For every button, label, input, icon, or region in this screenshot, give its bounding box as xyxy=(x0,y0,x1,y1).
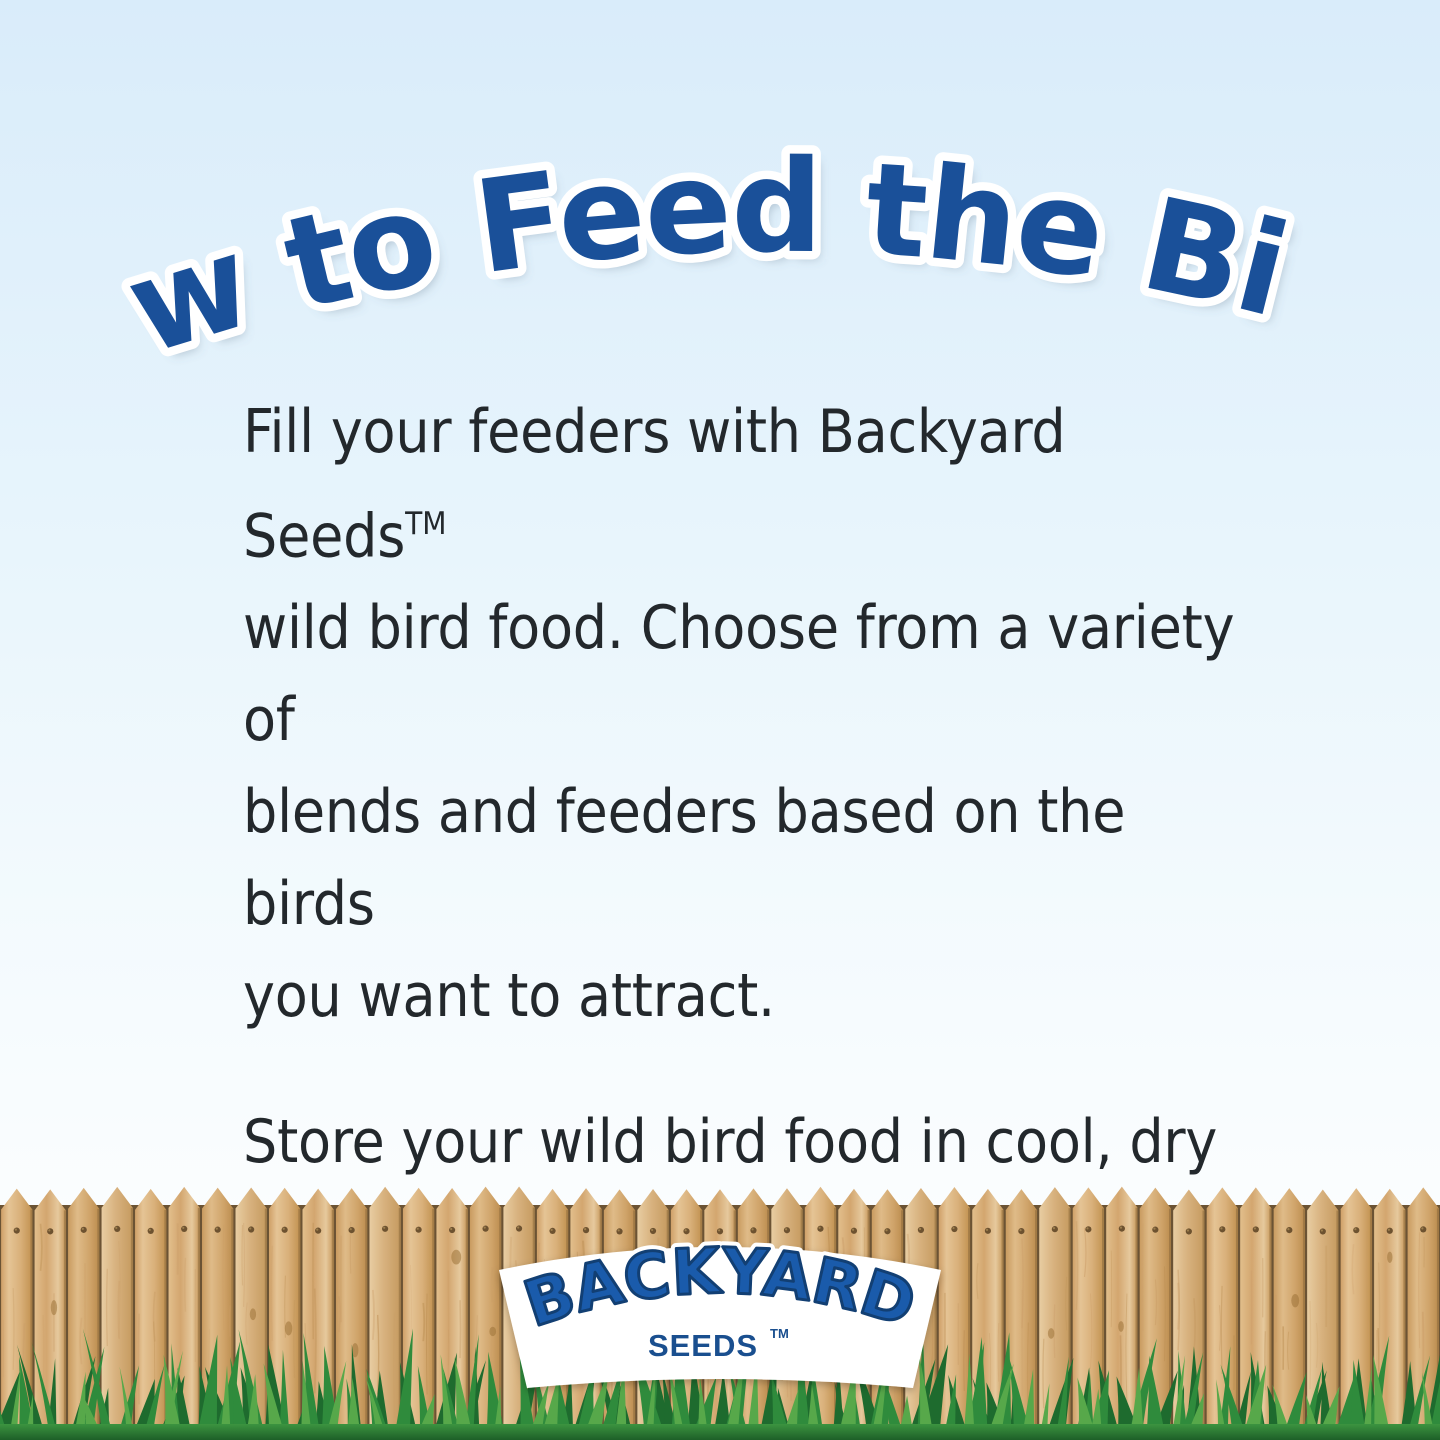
fence-nail xyxy=(282,1227,288,1233)
wood-grain xyxy=(107,1269,108,1346)
paragraph-fill-feeders: Fill your feeders with Backyard SeedsTM … xyxy=(243,386,1253,1042)
wood-grain xyxy=(394,1312,395,1417)
fence-nail-highlight xyxy=(1086,1227,1088,1229)
picket-edge-shadow xyxy=(1035,1210,1037,1440)
fence-nail-highlight xyxy=(249,1227,251,1229)
wood-knot xyxy=(1118,1321,1124,1332)
fence-nail xyxy=(114,1226,120,1232)
wood-grain xyxy=(43,1315,44,1392)
fence-nail xyxy=(1320,1228,1326,1234)
fence-nail-highlight xyxy=(1019,1229,1021,1231)
turf-base xyxy=(0,1424,1440,1440)
fence-nail-highlight xyxy=(417,1228,419,1230)
fence-nail xyxy=(14,1227,20,1233)
fence-nail-highlight xyxy=(1053,1227,1055,1229)
logo-sub-trademark: TM xyxy=(770,1326,789,1341)
fence-nail xyxy=(47,1228,53,1234)
picket-edge-shadow xyxy=(365,1209,367,1440)
title-fill-layer: How to Feed the Birds xyxy=(0,0,1300,384)
poster-canvas: How to Feed the Birds How to Feed the Bi… xyxy=(0,0,1440,1440)
picket-edge-shadow xyxy=(1069,1208,1071,1440)
fence-nail-highlight xyxy=(1354,1228,1356,1230)
fence-nail-highlight xyxy=(383,1227,385,1229)
fence-nail xyxy=(248,1226,254,1232)
picket-edge-shadow xyxy=(265,1209,267,1440)
trademark-symbol: TM xyxy=(405,506,446,542)
fence-nail xyxy=(1286,1227,1292,1233)
wood-grain xyxy=(1054,1304,1055,1357)
fence-nail-highlight xyxy=(216,1228,218,1230)
fence-nail xyxy=(1152,1227,1158,1233)
fence-nail xyxy=(81,1227,87,1233)
fence-nail-highlight xyxy=(1187,1229,1189,1231)
wood-knot xyxy=(1387,1252,1392,1263)
fence-nail-highlight xyxy=(1220,1227,1222,1229)
fence-nail xyxy=(1052,1226,1058,1232)
fence-nail-highlight xyxy=(82,1228,84,1230)
wood-grain xyxy=(423,1303,424,1341)
wood-grain xyxy=(242,1225,243,1285)
paragraph-1-text-a: Fill your feeders with Backyard Seeds xyxy=(243,397,1065,571)
wood-grain xyxy=(118,1281,119,1339)
fence-nail-highlight xyxy=(15,1228,17,1230)
fence-nail xyxy=(1387,1228,1393,1234)
fence-nail-highlight xyxy=(350,1228,352,1230)
wood-grain xyxy=(139,1314,140,1405)
wood-knot xyxy=(51,1300,57,1315)
picket-board xyxy=(35,1189,66,1440)
fence-nail-highlight xyxy=(1421,1227,1423,1229)
logo-artwork: BACKYARD BACKYARD BACKYARD SEEDS TM xyxy=(485,1228,955,1393)
fence-nail xyxy=(1085,1226,1091,1232)
title-shadow-layer: How to Feed the Birds xyxy=(0,0,1307,392)
fence-nail-highlight xyxy=(115,1227,117,1229)
title-artwork: How to Feed the Birds How to Feed the Bi… xyxy=(0,104,1440,324)
fence-nail xyxy=(1119,1226,1125,1232)
fence-nail-highlight xyxy=(149,1229,151,1231)
fence-nail xyxy=(382,1226,388,1232)
page-title: How to Feed the Birds How to Feed the Bi… xyxy=(0,104,1440,324)
picket-edge-shadow xyxy=(64,1210,66,1440)
wood-knot xyxy=(451,1250,461,1265)
paragraph-1-text-b: wild bird food. Choose from a variety of… xyxy=(243,593,1234,1031)
fence-picket xyxy=(35,1189,66,1440)
fence-nail-highlight xyxy=(283,1228,285,1230)
backyard-seeds-logo[interactable]: BACKYARD BACKYARD BACKYARD SEEDS TM xyxy=(485,1228,955,1393)
wood-grain xyxy=(185,1258,186,1312)
wood-grain xyxy=(1221,1286,1222,1374)
fence-nail xyxy=(416,1227,422,1233)
fence-nail xyxy=(1353,1227,1359,1233)
fence-nail xyxy=(181,1226,187,1232)
fence-nail xyxy=(349,1227,355,1233)
wood-knot xyxy=(1291,1294,1299,1307)
fence-nail-highlight xyxy=(48,1229,50,1231)
wood-knot xyxy=(285,1321,292,1335)
title-outline-layer: How to Feed the Birds xyxy=(0,0,1300,384)
picket-edge-shadow xyxy=(466,1209,468,1440)
wood-grain xyxy=(1310,1301,1311,1389)
wood-knot xyxy=(250,1308,256,1320)
fence-nail-highlight xyxy=(1388,1229,1390,1231)
fence-nail xyxy=(1018,1228,1024,1234)
wood-grain xyxy=(271,1246,272,1341)
fence-nail xyxy=(449,1227,455,1233)
fence-nail xyxy=(1219,1226,1225,1232)
wood-grain xyxy=(448,1271,449,1389)
wood-grain xyxy=(1367,1231,1368,1311)
fence-nail xyxy=(1253,1226,1259,1232)
logo-sub-label: SEEDS xyxy=(648,1328,758,1363)
fence-nail xyxy=(215,1227,221,1233)
fence-nail-highlight xyxy=(1287,1228,1289,1230)
wood-grain xyxy=(1423,1312,1424,1383)
fence-nail xyxy=(1186,1228,1192,1234)
fence-nail-highlight xyxy=(1321,1229,1323,1231)
fence-nail xyxy=(315,1228,321,1234)
fence-nail-highlight xyxy=(1254,1227,1256,1229)
wood-knot xyxy=(1048,1328,1055,1339)
fence-nail-highlight xyxy=(182,1227,184,1229)
picket-edge-shadow xyxy=(298,1209,300,1440)
fence-nail-highlight xyxy=(450,1228,452,1230)
wood-grain xyxy=(964,1330,965,1391)
fence-nail xyxy=(1420,1226,1426,1232)
picket-edge-shadow xyxy=(1236,1208,1238,1440)
fence-nail-highlight xyxy=(986,1229,988,1231)
wood-grain xyxy=(1265,1331,1266,1390)
fence-nail-highlight xyxy=(1120,1227,1122,1229)
fence-nail-highlight xyxy=(1153,1228,1155,1230)
fence-nail xyxy=(985,1228,991,1234)
fence-nail xyxy=(148,1228,154,1234)
picket-edge-shadow xyxy=(1303,1209,1305,1440)
fence-nail-highlight xyxy=(316,1229,318,1231)
